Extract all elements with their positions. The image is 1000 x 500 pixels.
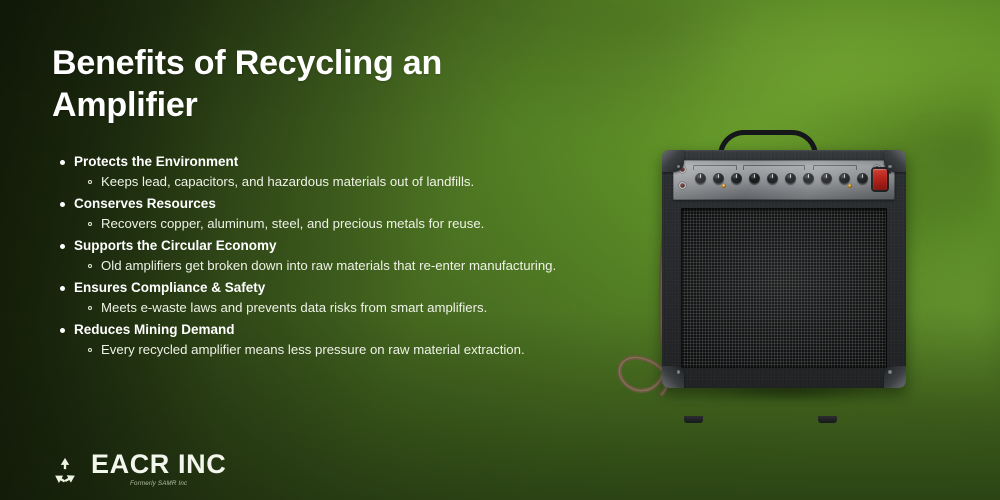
benefit-heading: Ensures Compliance & Safety [52,278,612,298]
list-item: Reduces Mining Demand Every recycled amp… [52,320,612,360]
knob-output[interactable] [857,173,868,184]
knob-master[interactable] [839,173,850,184]
benefits-list: Protects the Environment Keeps lead, cap… [52,152,612,360]
amplifier-foot-left [684,416,703,423]
knob-bass[interactable] [785,173,796,184]
knob-treble[interactable] [749,173,760,184]
power-switch[interactable] [873,169,887,190]
knob-level[interactable] [713,173,724,184]
input-jack-2 [679,182,686,189]
amplifier-image [600,118,940,418]
knob-reverb[interactable] [821,173,832,184]
panel-group-master [813,165,857,170]
corner-protector-top-left [662,150,684,172]
benefit-heading: Supports the Circular Economy [52,236,612,256]
knob-presence[interactable] [803,173,814,184]
slide-canvas: Benefits of Recycling an Amplifier Prote… [0,0,1000,500]
corner-protector-bottom-left [662,366,684,388]
corner-protector-top-right [884,150,906,172]
text-content-block: Benefits of Recycling an Amplifier Prote… [52,42,612,362]
headphone-jack [873,183,881,191]
page-title: Benefits of Recycling an Amplifier [52,42,512,126]
list-item: Ensures Compliance & Safety Meets e-wast… [52,278,612,318]
logo-text-group: EACR INC Formerly SAMR Inc [91,451,226,488]
benefit-detail: Recovers copper, aluminum, steel, and pr… [52,214,612,234]
list-item: Conserves Resources Recovers copper, alu… [52,194,612,234]
recycle-icon [50,455,80,485]
benefit-sublist: Old amplifiers get broken down into raw … [52,256,612,276]
amplifier-foot-right [818,416,837,423]
benefit-detail: Keeps lead, capacitors, and hazardous ma… [52,172,612,192]
indicator-led-1 [722,184,726,188]
corner-protector-bottom-right [884,366,906,388]
brand-logo: EACR INC Formerly SAMR Inc [50,451,226,488]
logo-tagline: Formerly SAMR Inc [91,479,226,488]
benefit-sublist: Keeps lead, capacitors, and hazardous ma… [52,172,612,192]
panel-group-channel2 [743,165,805,170]
benefit-sublist: Every recycled amplifier means less pres… [52,340,612,360]
indicator-led-2 [848,184,852,188]
knob-volume[interactable] [731,173,742,184]
benefit-detail: Every recycled amplifier means less pres… [52,340,612,360]
amplifier-cabinet [662,150,906,388]
benefit-heading: Protects the Environment [52,152,612,172]
benefit-heading: Conserves Resources [52,194,612,214]
panel-group-channel1 [693,165,737,170]
list-item: Supports the Circular Economy Old amplif… [52,236,612,276]
knob-mid[interactable] [767,173,778,184]
amplifier-control-panel [673,160,895,200]
logo-company-name: EACR INC [91,451,226,478]
benefit-sublist: Recovers copper, aluminum, steel, and pr… [52,214,612,234]
benefit-detail: Meets e-waste laws and prevents data ris… [52,298,612,318]
benefit-heading: Reduces Mining Demand [52,320,612,340]
benefit-detail: Old amplifiers get broken down into raw … [52,256,612,276]
aux-in-jack [873,165,881,173]
speaker-grille [681,208,887,368]
list-item: Protects the Environment Keeps lead, cap… [52,152,612,192]
knob-gain[interactable] [695,173,706,184]
benefit-sublist: Meets e-waste laws and prevents data ris… [52,298,612,318]
